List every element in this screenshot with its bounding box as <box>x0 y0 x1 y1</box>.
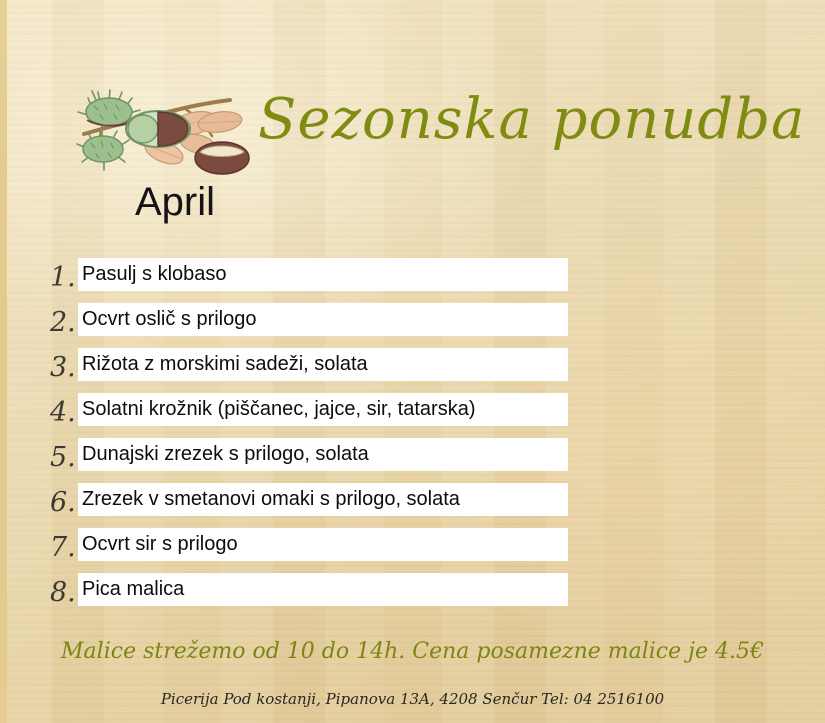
list-item: 6. Zrezek v smetanovi omaki s prilogo, s… <box>0 483 825 528</box>
list-item-number: 5. <box>50 444 80 471</box>
list-item: 5. Dunajski zrezek s prilogo, solata <box>0 438 825 483</box>
list-item: 2. Ocvrt oslič s prilogo <box>0 303 825 348</box>
list-item-label: Pica malica <box>82 578 184 601</box>
list-item-label: Zrezek v smetanovi omaki s prilogo, sola… <box>82 488 460 511</box>
list-item-number: 1. <box>50 264 80 291</box>
page-title: Sezonska ponudba malic <box>258 92 825 148</box>
opening-hours-and-price: Malice strežemo od 10 do 14h. Cena posam… <box>0 641 825 663</box>
list-item-label: Rižota z morskimi sadeži, solata <box>82 353 368 376</box>
list-item-number: 7. <box>50 534 80 561</box>
month-heading: April <box>135 182 215 222</box>
list-item-number: 8. <box>50 579 80 606</box>
list-item: 4. Solatni krožnik (piščanec, jajce, sir… <box>0 393 825 438</box>
list-item-number: 2. <box>50 309 80 336</box>
list-item: 1. Pasulj s klobaso <box>0 258 825 303</box>
seasonal-menu-poster: Sezonska ponudba malic April 1. Pasulj s… <box>0 0 825 723</box>
menu-list: 1. Pasulj s klobaso 2. Ocvrt oslič s pri… <box>0 258 825 618</box>
poster-header: Sezonska ponudba malic April <box>0 0 825 185</box>
list-item-label: Dunajski zrezek s prilogo, solata <box>82 443 369 466</box>
list-item-number: 4. <box>50 399 80 426</box>
list-item-label: Solatni krožnik (piščanec, jajce, sir, t… <box>82 398 476 421</box>
chestnut-branch-icon <box>72 82 252 180</box>
list-item-label: Ocvrt oslič s prilogo <box>82 308 257 331</box>
restaurant-address: Picerija Pod kostanji, Pipanova 13A, 420… <box>0 692 825 707</box>
list-item-number: 3. <box>50 354 80 381</box>
list-item: 8. Pica malica <box>0 573 825 618</box>
list-item-label: Ocvrt sir s prilogo <box>82 533 238 556</box>
list-item: 3. Rižota z morskimi sadeži, solata <box>0 348 825 393</box>
list-item: 7. Ocvrt sir s prilogo <box>0 528 825 573</box>
list-item-label: Pasulj s klobaso <box>82 263 227 286</box>
list-item-number: 6. <box>50 489 80 516</box>
